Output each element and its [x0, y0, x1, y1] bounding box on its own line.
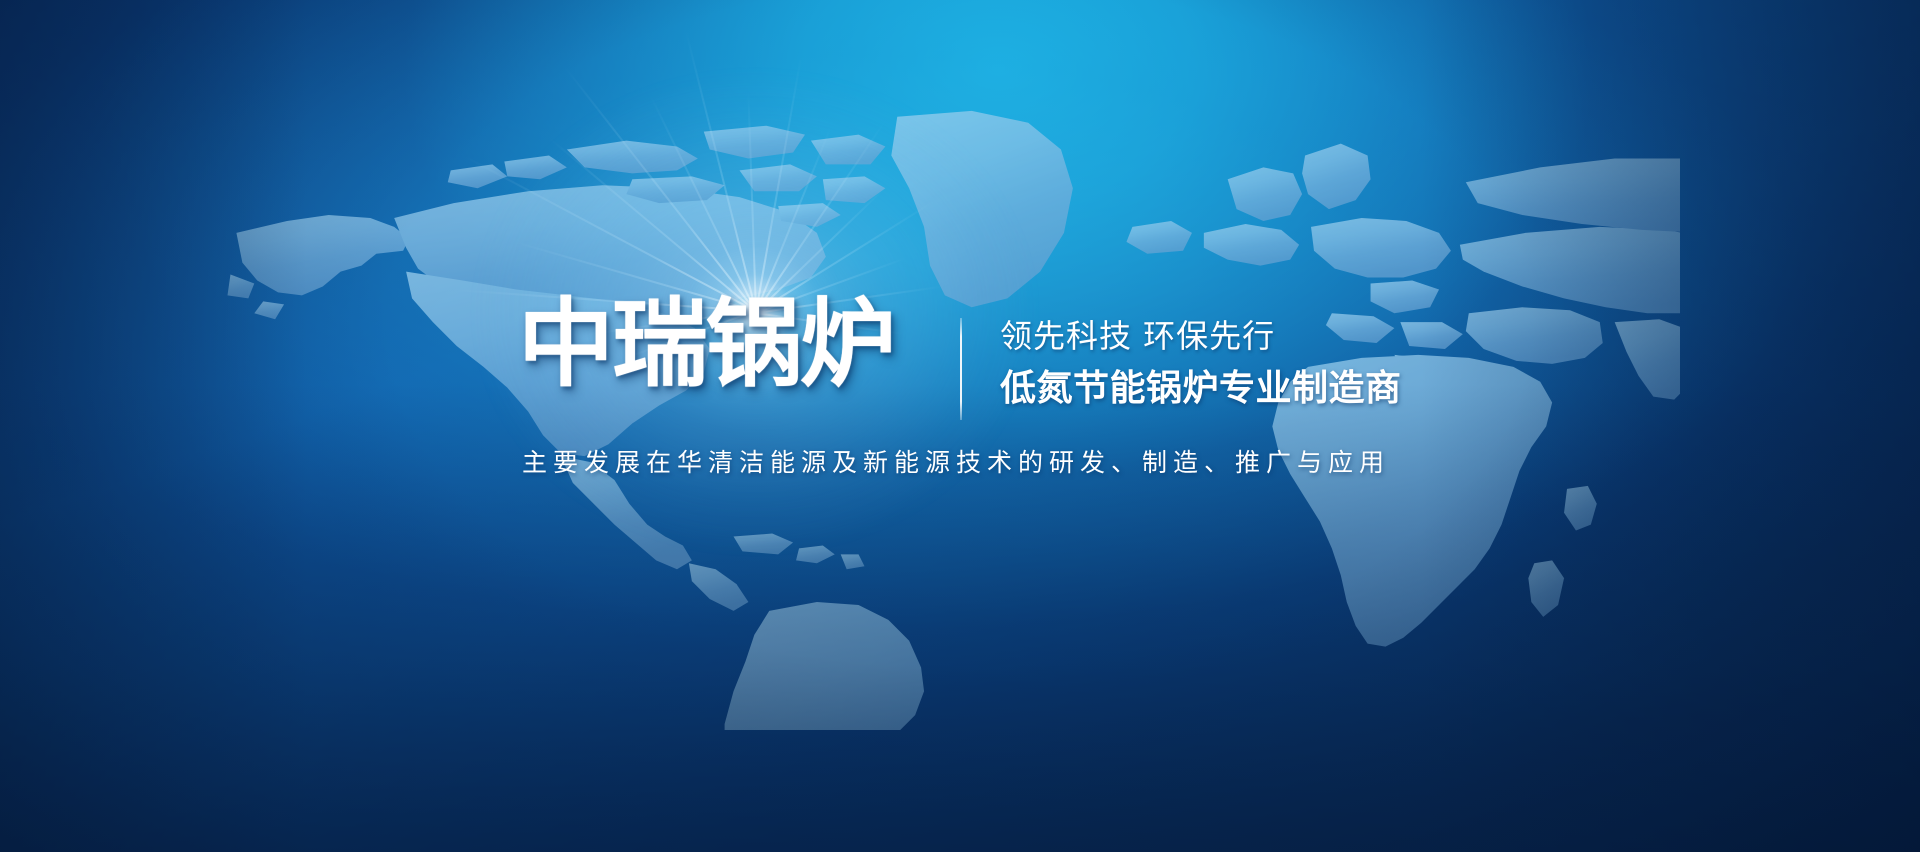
banner-content: 中瑞锅炉 领先科技 环保先行 低氮节能锅炉专业制造商 主要发展在华清洁能源及新能… [0, 0, 1920, 852]
company-logo-text: 中瑞锅炉 [518, 296, 894, 392]
slogan-line-1: 领先科技 环保先行 [1000, 316, 1402, 357]
slogan-group: 领先科技 环保先行 低氮节能锅炉专业制造商 [1000, 316, 1402, 411]
slogan-line-2: 低氮节能锅炉专业制造商 [1000, 367, 1402, 411]
hero-banner: 中瑞锅炉 领先科技 环保先行 低氮节能锅炉专业制造商 主要发展在华清洁能源及新能… [0, 0, 1920, 852]
banner-subtitle: 主要发展在华清洁能源及新能源技术的研发、制造、推广与应用 [522, 443, 1390, 479]
vertical-divider-line [960, 318, 962, 420]
